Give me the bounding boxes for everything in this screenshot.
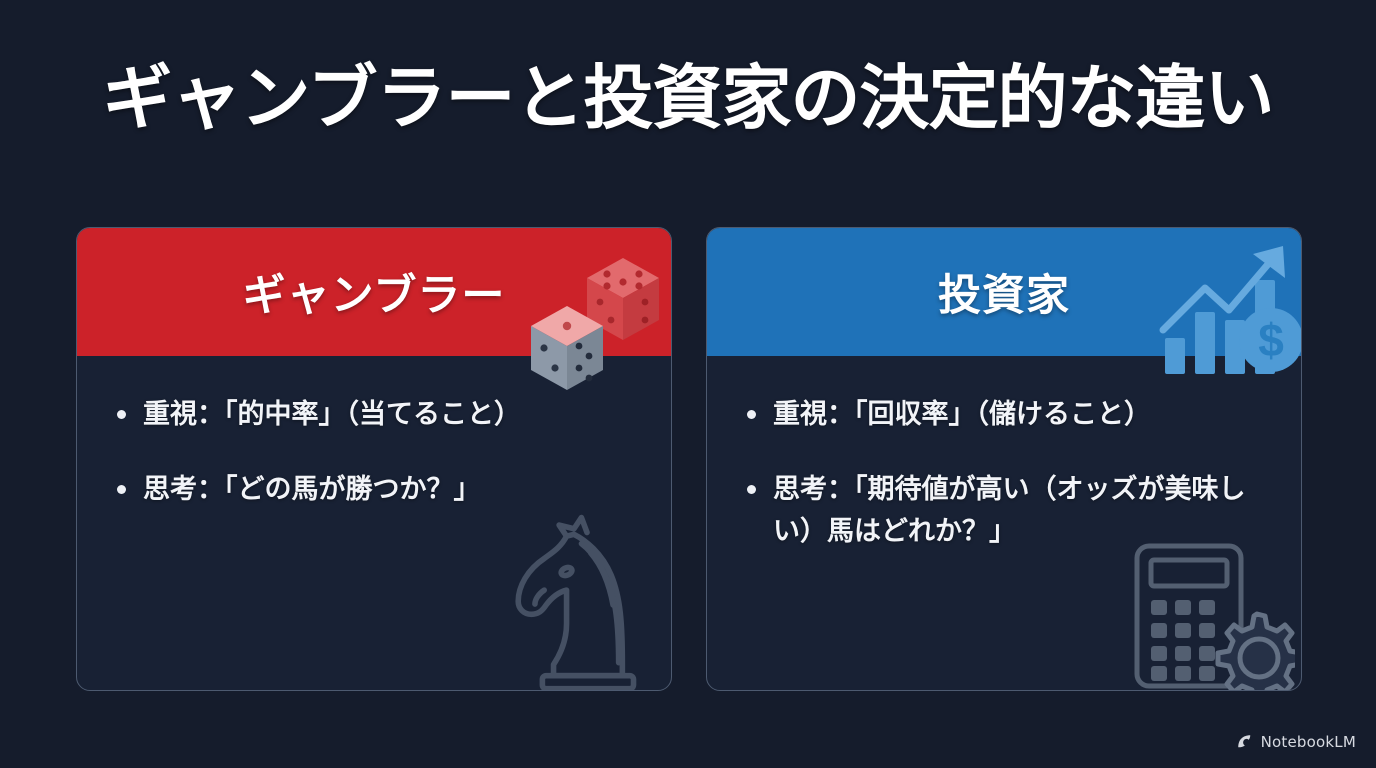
card-investor-body: 重視：「回収率」（儲けること） 思考：「期待値が高い（オッズが美味しい）馬はどれ… — [707, 356, 1301, 691]
calculator-gear-icon — [1123, 538, 1295, 691]
card-gambler-header-label: ギャンブラー — [243, 261, 506, 323]
growth-chart-dollar-icon: $ — [1157, 234, 1302, 374]
list-item: 思考：「どの馬が勝つか？」 — [111, 469, 637, 511]
gambler-bullet-list: 重視：「的中率」（当てること） 思考：「どの馬が勝つか？」 — [111, 394, 637, 511]
card-investor: 投資家 $ 重視：「回収率 — [706, 227, 1302, 691]
card-gambler: ギャンブラー — [76, 227, 672, 691]
list-item: 重視：「的中率」（当てること） — [111, 394, 637, 436]
card-investor-header-label: 投資家 — [938, 261, 1070, 323]
investor-bullet-list: 重視：「回収率」（儲けること） 思考：「期待値が高い（オッズが美味しい）馬はどれ… — [741, 394, 1267, 553]
watermark-label: NotebookLM — [1261, 733, 1356, 751]
card-gambler-body: 重視：「的中率」（当てること） 思考：「どの馬が勝つか？」 — [77, 356, 671, 691]
slide-canvas: ギャンブラーと投資家の決定的な違い ギャンブラー — [0, 0, 1376, 768]
card-investor-header: 投資家 $ — [707, 228, 1301, 356]
chess-knight-icon — [481, 510, 667, 691]
notebooklm-watermark: NotebookLM — [1236, 733, 1356, 751]
list-item: 思考：「期待値が高い（オッズが美味しい）馬はどれか？」 — [741, 469, 1267, 553]
notebooklm-logo-icon — [1236, 733, 1254, 751]
card-gambler-header: ギャンブラー — [77, 228, 671, 356]
page-title: ギャンブラーと投資家の決定的な違い — [0, 58, 1376, 139]
list-item: 重視：「回収率」（儲けること） — [741, 394, 1267, 436]
